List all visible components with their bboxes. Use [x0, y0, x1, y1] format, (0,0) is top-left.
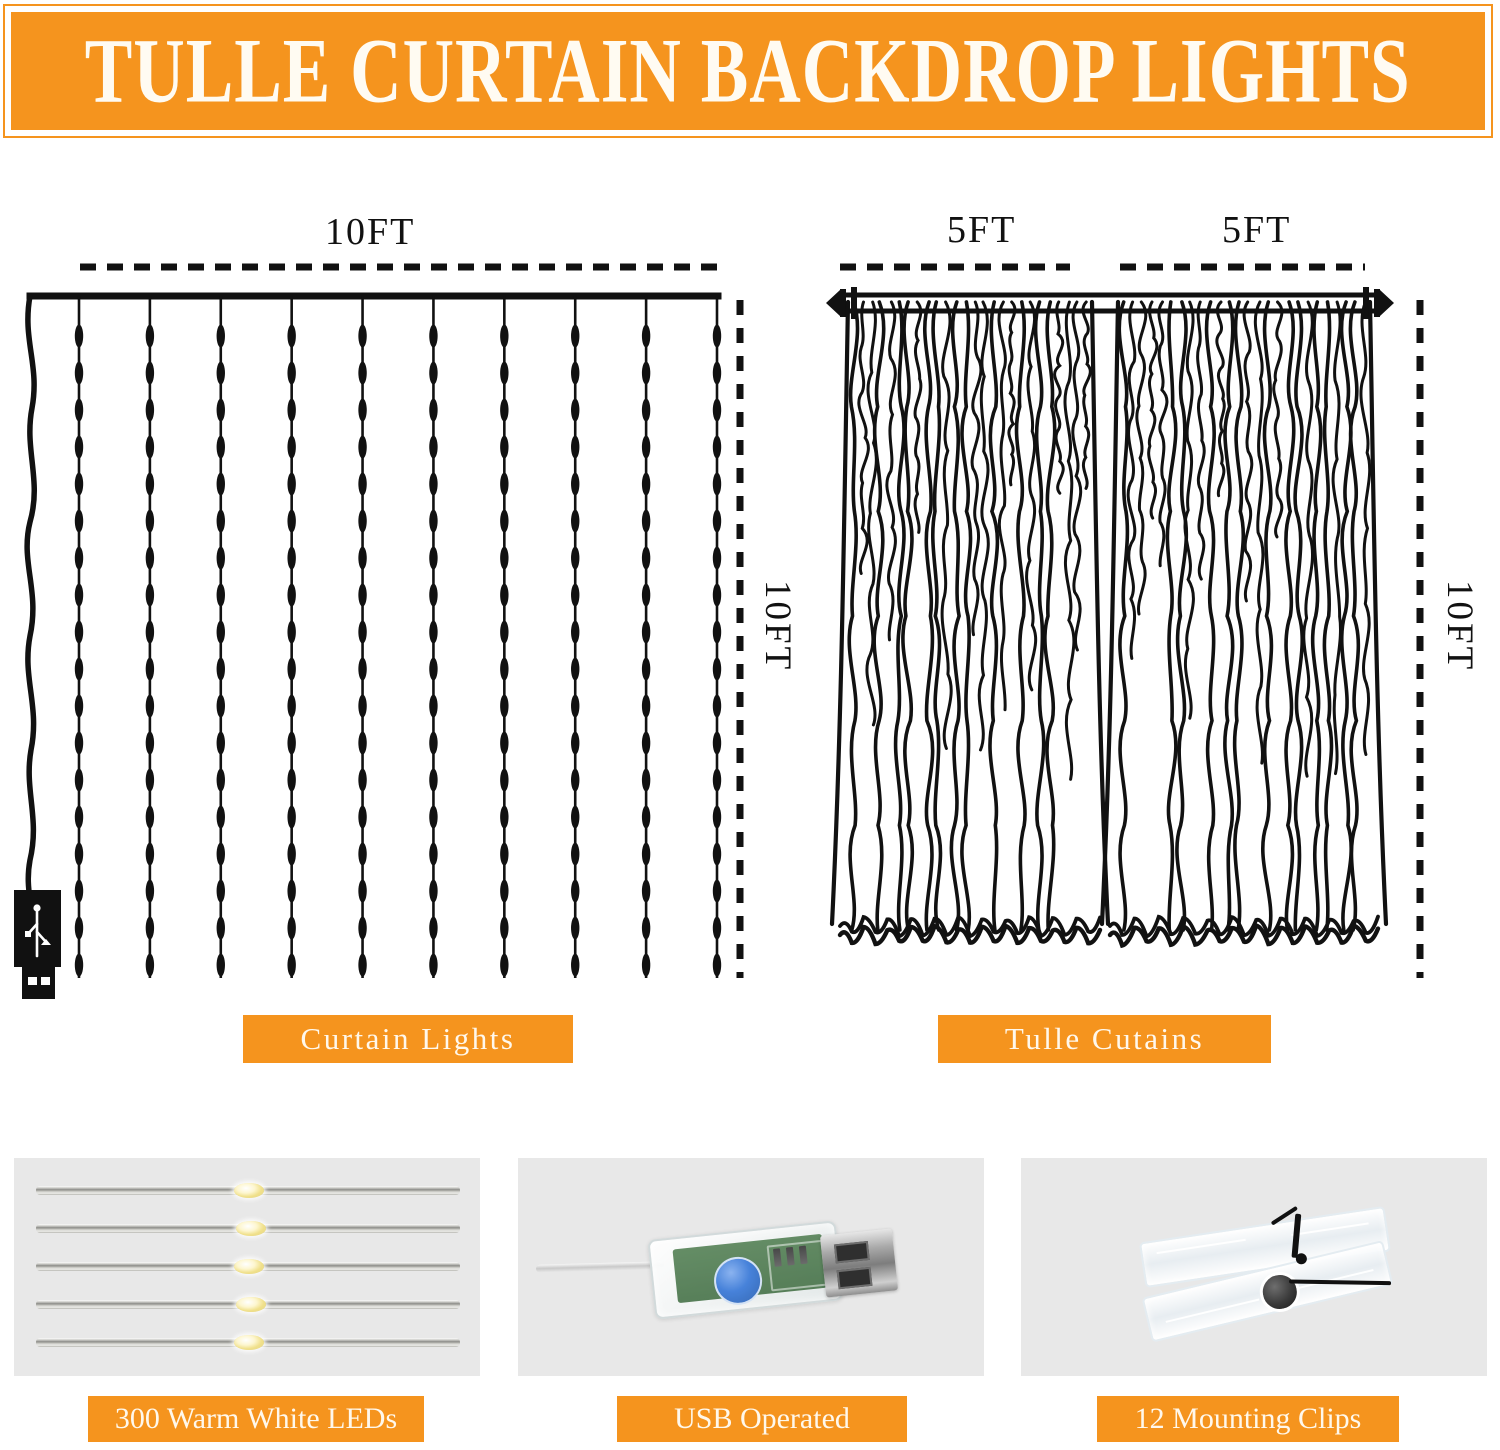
- left-panel-width-label-wrap: 5FT: [947, 208, 1016, 252]
- led-bead: [713, 806, 721, 829]
- led-bead: [713, 732, 721, 755]
- led-bead: [642, 732, 650, 755]
- led-bead: [429, 732, 437, 755]
- led-bead: [713, 658, 721, 681]
- led-bead: [287, 510, 295, 533]
- tulle-fold-line: [1017, 302, 1026, 930]
- led-bead: [571, 843, 579, 866]
- led-bead: [429, 917, 437, 940]
- usb-controller-photo: [518, 1158, 984, 1376]
- led-bead: [429, 658, 437, 681]
- tulle-fold-line: [1274, 302, 1282, 537]
- tulle-fold-line: [1083, 302, 1090, 488]
- led-bead: [500, 880, 508, 903]
- tulle-fold-line: [1313, 302, 1321, 930]
- led-bead: [642, 769, 650, 792]
- tulle-fold-line: [972, 302, 981, 635]
- copper-wire-strand: [36, 1338, 460, 1347]
- led-bead: [642, 473, 650, 496]
- tulle-fold-line: [887, 302, 896, 640]
- led-bead: [713, 954, 721, 977]
- tulle-fold-line: [925, 302, 933, 930]
- led-bead: [713, 436, 721, 459]
- led-bead: [287, 658, 295, 681]
- led-bead: [500, 547, 508, 570]
- tulle-fold-line: [1167, 302, 1175, 930]
- led-bead: [713, 880, 721, 903]
- led-bead: [571, 954, 579, 977]
- led-bead: [358, 547, 366, 570]
- led-bead: [75, 843, 83, 866]
- led-bead: [429, 436, 437, 459]
- tulle-fold-line: [1304, 302, 1313, 776]
- led-bead: [642, 584, 650, 607]
- led-bead: [146, 436, 154, 459]
- led-bead: [287, 584, 295, 607]
- led-bead: [500, 954, 508, 977]
- led-bead: [642, 880, 650, 903]
- led-bead: [146, 732, 154, 755]
- power-cord: [27, 296, 34, 940]
- led-bead: [75, 769, 83, 792]
- led-bead: [500, 843, 508, 866]
- led-bead: [146, 917, 154, 940]
- usb-a-connector: [820, 1228, 898, 1297]
- led-bead: [500, 325, 508, 348]
- led-bead: [146, 695, 154, 718]
- led-bead: [500, 584, 508, 607]
- led-bead: [429, 695, 437, 718]
- led-bead: [500, 658, 508, 681]
- led-bead: [217, 436, 225, 459]
- led-bead: [358, 769, 366, 792]
- led-bead: [75, 325, 83, 348]
- led-bead: [571, 399, 579, 422]
- led-bead: [217, 510, 225, 533]
- led-bead: [429, 362, 437, 385]
- led-bead: [146, 547, 154, 570]
- led-bead: [429, 325, 437, 348]
- feature-label-leds: 300 Warm White LEDs: [88, 1396, 424, 1442]
- caption-tulle-curtains: Tulle Cutains: [938, 1015, 1271, 1063]
- tulle-fold-line: [990, 302, 997, 930]
- tulle-fold-line: [1149, 302, 1157, 518]
- led-bead: [287, 806, 295, 829]
- right-panel-width-label-wrap: 5FT: [1222, 208, 1291, 252]
- led-bead: [358, 621, 366, 644]
- led-bead: [146, 954, 154, 977]
- led-bead: [429, 880, 437, 903]
- tulle-fold-line: [1119, 302, 1127, 930]
- led-bead: [500, 621, 508, 644]
- tulle-fold-line: [1073, 302, 1081, 650]
- led-bead: [358, 806, 366, 829]
- led-bead: [358, 880, 366, 903]
- led-bead: [500, 436, 508, 459]
- led-bead: [75, 584, 83, 607]
- led-bead: [642, 806, 650, 829]
- led-bead: [571, 325, 579, 348]
- copper-wire-led-strands-photo: [14, 1158, 480, 1376]
- tulle-fold-line: [1009, 302, 1015, 485]
- tulle-fold-line: [1295, 302, 1302, 930]
- led-bead: [642, 436, 650, 459]
- led-bead: [642, 695, 650, 718]
- tulle-fold-line: [1185, 302, 1193, 718]
- tulle-fold-line: [999, 302, 1005, 710]
- led-bead: [713, 473, 721, 496]
- led-bead: [429, 510, 437, 533]
- led-bead: [75, 436, 83, 459]
- led-bead: [642, 399, 650, 422]
- led-bead: [500, 917, 508, 940]
- curtain-lights-height-label-wrap: 10FT: [756, 580, 799, 672]
- led-bead: [642, 362, 650, 385]
- tulle-fold-line: [1235, 302, 1244, 930]
- tulle-fold-line: [1263, 302, 1272, 930]
- header-banner-fill: TULLE CURTAIN BACKDROP LIGHTS: [11, 12, 1485, 130]
- tulle-fold-line: [1045, 302, 1055, 930]
- led-bead: [287, 621, 295, 644]
- led-bead: [358, 436, 366, 459]
- led-bead: [571, 584, 579, 607]
- led-strand-group: [75, 296, 721, 978]
- led-bead: [642, 658, 650, 681]
- usb-plug-icon: [14, 890, 61, 999]
- led-bead: [571, 806, 579, 829]
- led-bead: [571, 436, 579, 459]
- led-chip: [234, 1183, 264, 1198]
- clip-ridge: [1291, 1222, 1368, 1236]
- led-chip: [236, 1297, 266, 1312]
- led-bead: [429, 806, 437, 829]
- led-bead: [75, 547, 83, 570]
- usb-circuit-board: [672, 1234, 827, 1303]
- led-bead: [217, 658, 225, 681]
- led-bead: [146, 473, 154, 496]
- led-bead: [287, 547, 295, 570]
- led-bead: [75, 880, 83, 903]
- left-panel-width-label: 5FT: [947, 209, 1016, 251]
- tulle-fold-line: [1286, 302, 1294, 930]
- led-bead: [146, 584, 154, 607]
- led-bead: [713, 584, 721, 607]
- led-bead: [713, 621, 721, 644]
- tulle-fold-line: [1177, 302, 1186, 930]
- mounting-clip: [1130, 1185, 1404, 1352]
- tulle-panel-edge: [832, 302, 848, 924]
- tulle-fold-line: [874, 302, 884, 930]
- led-bead: [358, 917, 366, 940]
- led-chip: [234, 1335, 264, 1350]
- led-bead: [217, 621, 225, 644]
- tulle-fold-line: [962, 302, 971, 930]
- transparent-mounting-clip-photo: [1021, 1158, 1487, 1376]
- tulle-panel-edge: [1370, 302, 1386, 924]
- curtain-lights-width-label-wrap: 10FT: [325, 210, 415, 254]
- led-bead: [571, 917, 579, 940]
- tulle-fold-group: [849, 302, 1369, 930]
- led-bead: [287, 325, 295, 348]
- clip-ridge: [1166, 1299, 1260, 1323]
- curtain-lights-diagram: [0, 150, 800, 1050]
- curtain-lights-height-label: 10FT: [756, 580, 799, 672]
- tulle-fold-line: [933, 302, 941, 930]
- tulle-fold-line: [1324, 302, 1331, 930]
- led-bead: [429, 843, 437, 866]
- led-bead: [571, 621, 579, 644]
- led-bead: [358, 843, 366, 866]
- led-bead: [571, 473, 579, 496]
- led-bead: [571, 695, 579, 718]
- tulle-height-label: 10FT: [1438, 580, 1481, 672]
- led-bead: [429, 399, 437, 422]
- led-bead: [287, 917, 295, 940]
- led-chip: [234, 1259, 264, 1274]
- led-bead: [429, 621, 437, 644]
- led-bead: [642, 954, 650, 977]
- usb-pin: [837, 1267, 873, 1289]
- led-bead: [287, 473, 295, 496]
- tulle-fold-line: [896, 302, 904, 930]
- led-bead: [642, 917, 650, 940]
- tulle-fold-line: [915, 302, 921, 532]
- led-bead: [146, 325, 154, 348]
- led-bead: [571, 880, 579, 903]
- led-bead: [429, 473, 437, 496]
- led-bead: [642, 510, 650, 533]
- led-bead: [217, 362, 225, 385]
- tulle-fold-line: [1342, 302, 1352, 930]
- led-bead: [146, 658, 154, 681]
- led-bead: [429, 954, 437, 977]
- tulle-fold-line: [903, 302, 912, 930]
- tulle-fold-line: [1255, 302, 1263, 763]
- right-panel-width-label: 5FT: [1222, 209, 1291, 251]
- led-bead: [713, 843, 721, 866]
- led-bead: [642, 843, 650, 866]
- clip-ridge: [1157, 1239, 1246, 1254]
- led-bead: [713, 399, 721, 422]
- tulle-fold-line: [1198, 302, 1205, 579]
- tulle-fold-line: [1333, 302, 1340, 774]
- tulle-fold-line: [1207, 302, 1215, 930]
- usb-component-outline: [767, 1240, 828, 1292]
- tulle-hem-group: [832, 302, 1386, 946]
- usb-pin: [834, 1241, 870, 1263]
- led-bead: [217, 399, 225, 422]
- led-bead: [571, 547, 579, 570]
- led-bead: [146, 769, 154, 792]
- tulle-fold-line: [951, 302, 959, 930]
- led-chip: [236, 1221, 266, 1236]
- led-bead: [713, 769, 721, 792]
- led-bead: [500, 732, 508, 755]
- tulle-fold-line: [1027, 302, 1036, 690]
- led-bead: [358, 732, 366, 755]
- feature-label-usb: USB Operated: [617, 1396, 907, 1442]
- led-bead: [713, 362, 721, 385]
- led-bead: [358, 473, 366, 496]
- led-bead: [287, 769, 295, 792]
- led-bead: [571, 732, 579, 755]
- led-bead: [75, 362, 83, 385]
- led-bead: [217, 584, 225, 607]
- led-bead: [217, 954, 225, 977]
- led-bead: [571, 658, 579, 681]
- led-bead: [358, 510, 366, 533]
- led-bead: [358, 584, 366, 607]
- led-bead: [287, 399, 295, 422]
- tulle-fold-line: [1350, 302, 1358, 930]
- led-bead: [217, 695, 225, 718]
- led-bead: [146, 806, 154, 829]
- led-bead: [713, 510, 721, 533]
- tulle-fold-line: [942, 302, 951, 749]
- led-bead: [287, 843, 295, 866]
- led-bead: [571, 510, 579, 533]
- led-bead: [642, 547, 650, 570]
- led-bead: [217, 732, 225, 755]
- copper-wire-strand: [36, 1262, 460, 1271]
- led-bead: [500, 695, 508, 718]
- led-bead: [500, 362, 508, 385]
- led-bead: [713, 695, 721, 718]
- led-bead: [287, 436, 295, 459]
- led-bead: [217, 917, 225, 940]
- tulle-fold-line: [1128, 302, 1135, 658]
- led-bead: [75, 917, 83, 940]
- led-bead: [713, 917, 721, 940]
- usb-controller-housing: [647, 1220, 843, 1319]
- copper-wire-strand: [36, 1186, 460, 1195]
- led-bead: [217, 806, 225, 829]
- tulle-fold-line: [1244, 302, 1252, 601]
- tulle-curtains-diagram: [820, 150, 1500, 1050]
- copper-wire-strand: [36, 1300, 460, 1309]
- led-bead: [75, 806, 83, 829]
- led-bead: [75, 954, 83, 977]
- led-bead: [713, 547, 721, 570]
- led-bead: [358, 658, 366, 681]
- led-bead: [713, 325, 721, 348]
- tulle-fold-line: [1065, 302, 1074, 779]
- led-bead: [146, 843, 154, 866]
- led-bead: [358, 695, 366, 718]
- led-bead: [217, 473, 225, 496]
- led-bead: [500, 399, 508, 422]
- led-bead: [217, 547, 225, 570]
- copper-wire-strand: [36, 1224, 460, 1233]
- led-bead: [358, 325, 366, 348]
- led-bead: [287, 880, 295, 903]
- led-bead: [75, 621, 83, 644]
- led-bead: [571, 362, 579, 385]
- led-bead: [358, 362, 366, 385]
- led-bead: [217, 325, 225, 348]
- curtain-lights-width-label: 10FT: [325, 211, 415, 253]
- header-banner: TULLE CURTAIN BACKDROP LIGHTS: [3, 4, 1493, 138]
- led-bead: [287, 362, 295, 385]
- led-bead: [500, 806, 508, 829]
- tulle-fold-line: [1159, 302, 1167, 566]
- led-bead: [217, 769, 225, 792]
- caption-curtain-lights: Curtain Lights: [243, 1015, 573, 1063]
- tulle-fold-line: [1137, 302, 1146, 614]
- led-bead: [146, 621, 154, 644]
- led-bead: [642, 325, 650, 348]
- tulle-height-label-wrap: 10FT: [1438, 580, 1481, 672]
- tulle-fold-line: [849, 302, 857, 930]
- tulle-fold-line: [1217, 302, 1224, 496]
- led-bead: [500, 473, 508, 496]
- tulle-fold-line: [1036, 302, 1044, 930]
- tulle-panel-edge: [1102, 302, 1118, 924]
- feature-label-clips: 12 Mounting Clips: [1097, 1396, 1399, 1442]
- led-bead: [75, 658, 83, 681]
- led-bead: [146, 399, 154, 422]
- led-bead: [146, 362, 154, 385]
- led-bead: [75, 510, 83, 533]
- led-bead: [287, 954, 295, 977]
- page-title: TULLE CURTAIN BACKDROP LIGHTS: [85, 25, 1411, 117]
- led-bead: [146, 880, 154, 903]
- tulle-fold-line: [859, 302, 869, 574]
- led-bead: [500, 510, 508, 533]
- led-bead: [287, 695, 295, 718]
- led-bead: [287, 732, 295, 755]
- led-bead: [75, 695, 83, 718]
- led-bead: [642, 621, 650, 644]
- led-bead: [571, 769, 579, 792]
- usb-cable: [536, 1261, 664, 1272]
- led-bead: [217, 880, 225, 903]
- led-bead: [75, 399, 83, 422]
- led-bead: [358, 954, 366, 977]
- led-bead: [75, 473, 83, 496]
- tulle-fold-line: [1361, 302, 1370, 755]
- usb-power-button[interactable]: [712, 1254, 765, 1307]
- led-bead: [146, 510, 154, 533]
- tulle-fold-line: [1055, 302, 1064, 493]
- led-bead: [429, 547, 437, 570]
- led-bead: [429, 584, 437, 607]
- led-bead: [75, 732, 83, 755]
- tulle-fold-line: [1225, 302, 1233, 930]
- led-bead: [500, 769, 508, 792]
- led-bead: [429, 769, 437, 792]
- diagram-area: 10FT 10FT 5FT 5FT: [0, 150, 1500, 1100]
- led-bead: [358, 399, 366, 422]
- led-bead: [217, 843, 225, 866]
